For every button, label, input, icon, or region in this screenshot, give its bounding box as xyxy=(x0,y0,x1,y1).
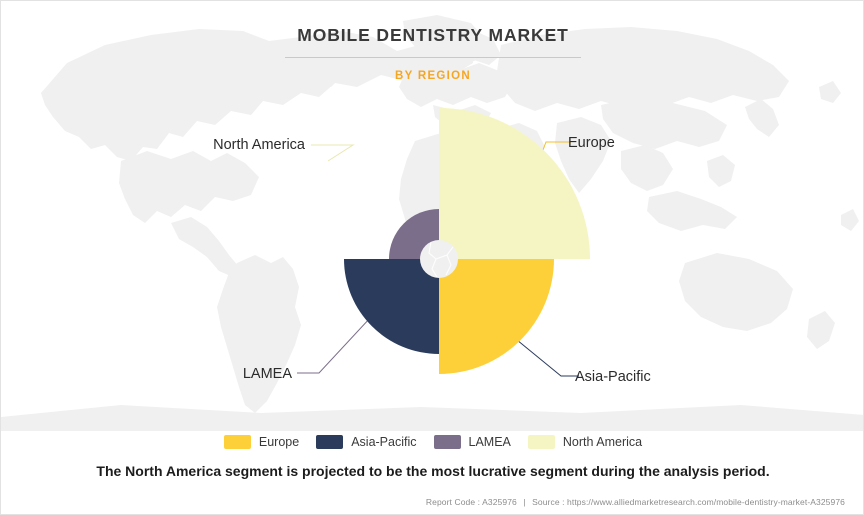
legend-label-north-america: North America xyxy=(563,435,642,449)
chart-legend: Europe Asia-Pacific LAMEA North America xyxy=(1,435,864,449)
legend-swatch-asia-pacific xyxy=(316,435,343,449)
callout-label-europe: Europe xyxy=(568,135,615,151)
title-divider xyxy=(285,57,581,58)
callout-label-north-america: North America xyxy=(213,137,306,153)
legend-label-europe: Europe xyxy=(259,435,299,449)
legend-swatch-north-america xyxy=(528,435,555,449)
legend-item-asia-pacific[interactable]: Asia-Pacific xyxy=(316,435,416,449)
chart-header: MOBILE DENTISTRY MARKET BY REGION xyxy=(1,25,864,82)
infographic-canvas: MOBILE DENTISTRY MARKET BY REGION xyxy=(0,0,864,515)
source-url[interactable]: Source : https://www.alliedmarketresearc… xyxy=(532,497,845,507)
legend-item-lamea[interactable]: LAMEA xyxy=(434,435,511,449)
legend-item-north-america[interactable]: North America xyxy=(528,435,642,449)
footer-meta: Report Code : A325976 | Source : https:/… xyxy=(426,497,845,507)
callout-label-lamea: LAMEA xyxy=(243,366,292,382)
leader-line-north-america xyxy=(311,145,353,161)
footer-separator: | xyxy=(519,497,529,507)
report-code: Report Code : A325976 xyxy=(426,497,517,507)
donut-hole xyxy=(420,240,458,278)
slice-north-america[interactable] xyxy=(439,108,590,259)
callout-label-asia-pacific: Asia-Pacific xyxy=(575,369,651,385)
legend-swatch-europe xyxy=(224,435,251,449)
chart-subtitle: BY REGION xyxy=(1,70,864,82)
legend-label-lamea: LAMEA xyxy=(469,435,511,449)
legend-swatch-lamea xyxy=(434,435,461,449)
legend-item-europe[interactable]: Europe xyxy=(224,435,299,449)
page-title: MOBILE DENTISTRY MARKET xyxy=(1,25,864,46)
legend-label-asia-pacific: Asia-Pacific xyxy=(351,435,416,449)
slice-asia-pacific[interactable] xyxy=(344,259,439,354)
chart-caption: The North America segment is projected t… xyxy=(1,463,864,479)
